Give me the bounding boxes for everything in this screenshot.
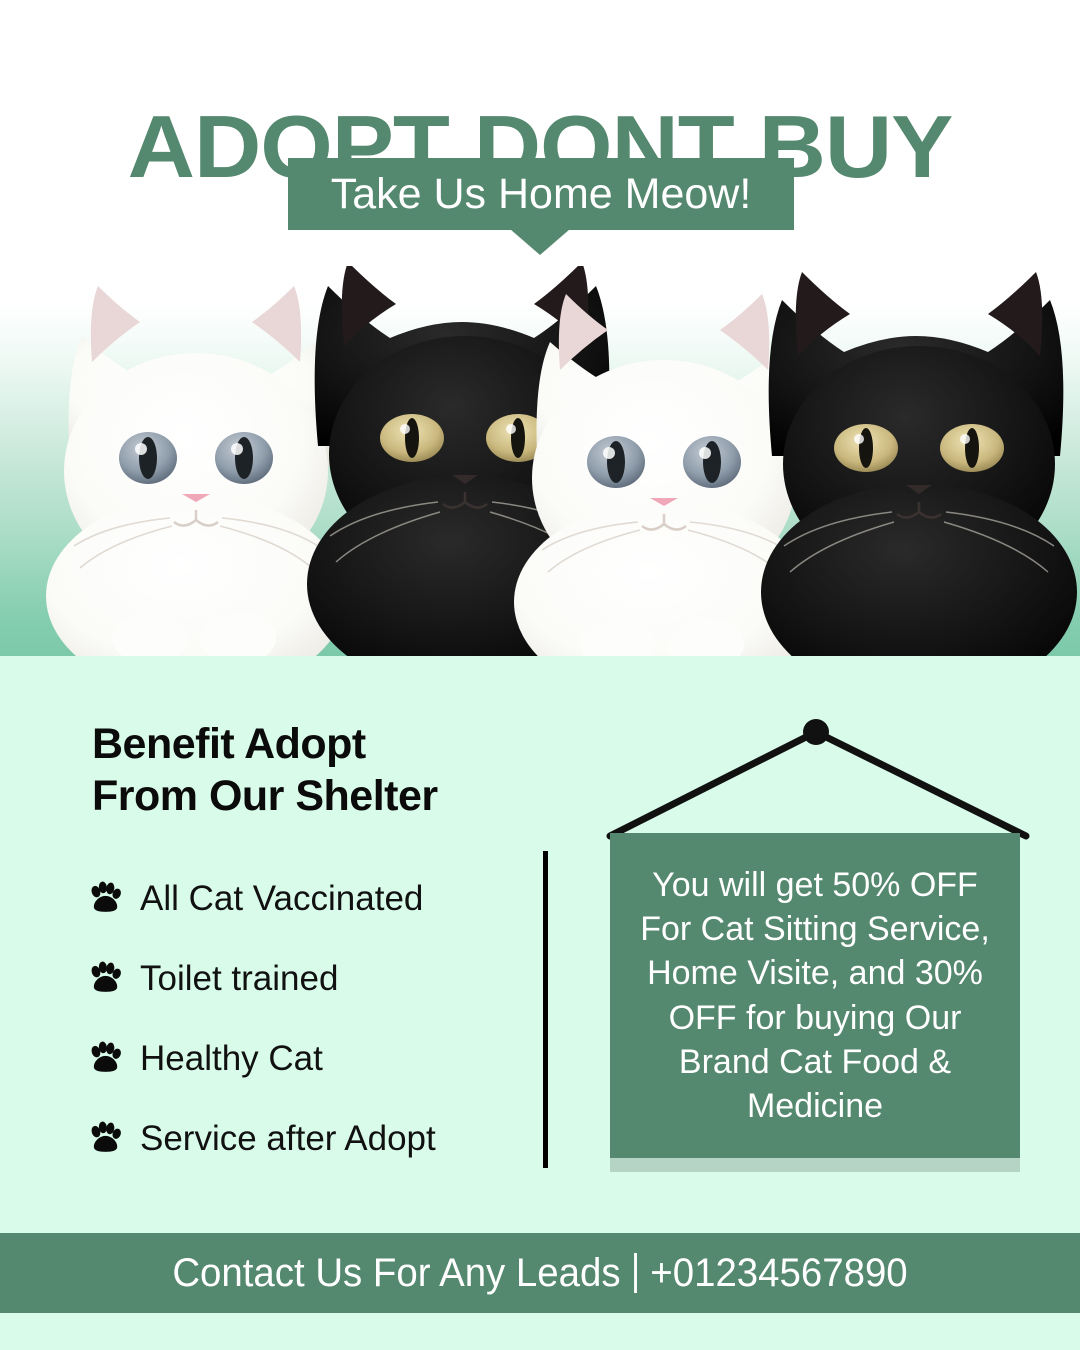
hero-section: ADOPT DONT BUY Take Us Home Meow! [0, 0, 1080, 656]
poster-canvas: ADOPT DONT BUY Take Us Home Meow! Benefi… [0, 0, 1080, 1350]
paw-icon [88, 881, 122, 915]
list-item: All Cat Vaccinated [88, 858, 558, 938]
list-item: Service after Adopt [88, 1098, 558, 1178]
contact-label: Contact Us For Any Leads [172, 1253, 620, 1293]
benefits-heading-line-1: Benefit Adopt [92, 718, 562, 770]
benefits-list: All Cat Vaccinated Toilet trained Health… [88, 858, 558, 1178]
sign-hanger-icon [606, 718, 1030, 843]
paw-icon [88, 1121, 122, 1155]
tagline-text: Take Us Home Meow! [331, 173, 752, 216]
contact-footer-bar: Contact Us For Any Leads +01234567890 [0, 1233, 1080, 1313]
contact-phone[interactable]: +01234567890 [650, 1253, 907, 1293]
benefit-label: All Cat Vaccinated [140, 881, 423, 916]
benefit-label: Service after Adopt [140, 1121, 436, 1156]
benefits-heading-line-2: From Our Shelter [92, 770, 562, 822]
paw-icon [88, 961, 122, 995]
benefit-label: Toilet trained [140, 961, 338, 996]
speech-bubble-tail-icon [510, 229, 570, 255]
list-item: Healthy Cat [88, 1018, 558, 1098]
vertical-divider [543, 851, 548, 1168]
benefits-heading: Benefit Adopt From Our Shelter [92, 718, 562, 823]
contact-separator-icon [634, 1253, 637, 1293]
promo-text: You will get 50% OFF For Cat Sitting Ser… [624, 863, 1006, 1128]
tagline-speech-bubble: Take Us Home Meow! [288, 158, 794, 230]
four-kittens-photo [0, 266, 1080, 656]
benefit-label: Healthy Cat [140, 1041, 323, 1076]
promo-sign: You will get 50% OFF For Cat Sitting Ser… [610, 833, 1020, 1158]
contact-footer-content: Contact Us For Any Leads +01234567890 [172, 1253, 907, 1293]
paw-icon [88, 1041, 122, 1075]
promo-sign-shadow [610, 1158, 1020, 1172]
kitten-4-black [761, 272, 1077, 656]
list-item: Toilet trained [88, 938, 558, 1018]
kitten-1-white [46, 286, 346, 656]
